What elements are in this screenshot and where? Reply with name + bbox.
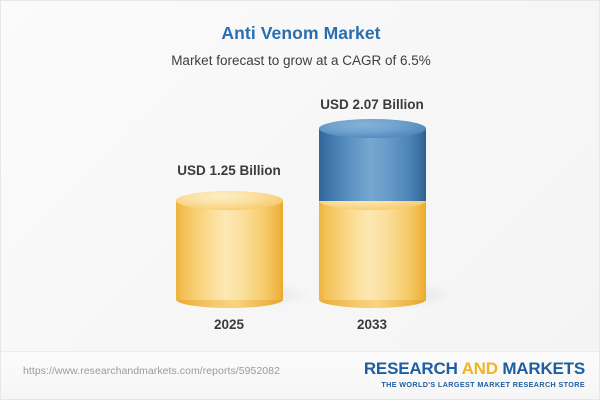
bar-segment-growth-2033 [319, 128, 426, 201]
bar-segment-base-2025 [176, 200, 283, 300]
bar-value-label-2033: USD 2.07 Billion [272, 97, 472, 112]
category-label-2033: 2033 [272, 317, 472, 332]
logo-wordmark: RESEARCH AND MARKETS [364, 360, 585, 378]
plot-area: USD 1.25 Billion 2025 USD 2.07 Billion [1, 1, 600, 353]
logo-word-and: AND [462, 359, 498, 378]
bar-segment-body [319, 128, 426, 201]
logo-word-research: RESEARCH [364, 359, 458, 378]
bar-segment-body [319, 200, 426, 300]
bar-cylinder-2025[interactable] [176, 191, 283, 308]
bar-top-cap-2033 [319, 119, 426, 138]
footer-bar: https://www.researchandmarkets.com/repor… [1, 351, 600, 399]
chart-canvas: Anti Venom Market Market forecast to gro… [0, 0, 600, 400]
bar-top-cap-2025 [176, 191, 283, 210]
report-url[interactable]: https://www.researchandmarkets.com/repor… [23, 365, 280, 377]
logo-tagline: THE WORLD'S LARGEST MARKET RESEARCH STOR… [364, 380, 585, 389]
bar-segment-body [176, 200, 283, 300]
logo-word-markets: MARKETS [502, 359, 585, 378]
research-and-markets-logo[interactable]: RESEARCH AND MARKETS THE WORLD'S LARGEST… [364, 360, 585, 389]
bar-value-label-2025: USD 1.25 Billion [129, 163, 329, 178]
bar-segment-base-2033 [319, 200, 426, 300]
bar-cylinder-2033[interactable] [319, 119, 426, 308]
